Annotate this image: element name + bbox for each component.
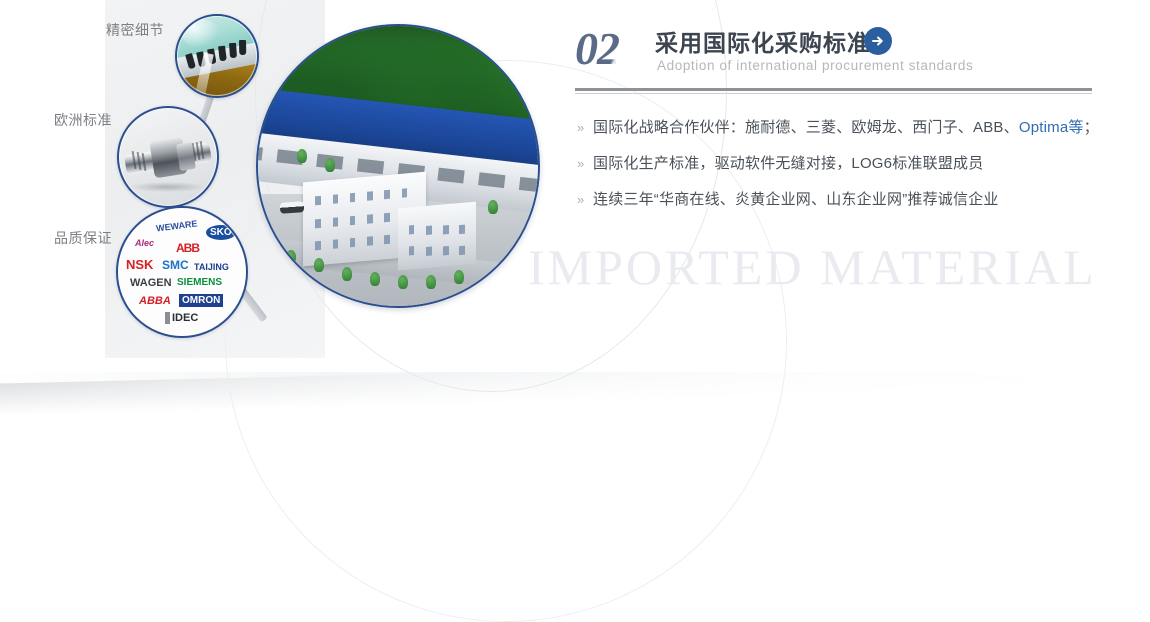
brand-logo-siemens: SIEMENS bbox=[177, 277, 222, 288]
brand-logo-nsk: NSK bbox=[126, 257, 153, 272]
watermark-text: IMPORTED MATERIAL bbox=[528, 238, 1097, 296]
bullet-text-accent: Optima等 bbox=[1019, 119, 1084, 136]
bullet-text: 连续三年“华商在线、炎黄企业网、山东企业网”推荐诚信企业 bbox=[593, 190, 999, 210]
brand-logo-idec: IDEC bbox=[165, 312, 198, 324]
brand-logo-omron: OMRON bbox=[179, 294, 223, 307]
section-header: 02 采用国际化采购标准 Adoption of international p… bbox=[575, 22, 1095, 88]
chevron-right-icon: » bbox=[577, 154, 593, 174]
bullet-text-tail: ； bbox=[1084, 119, 1099, 136]
promo-banner: 精密细节 欧洲标准 品质保证 WEWARE SKO Alec ABB NSK S bbox=[0, 0, 1150, 430]
brand-logo-abba: ABBA bbox=[139, 295, 171, 307]
label-precision-detail: 精密细节 bbox=[106, 20, 164, 40]
list-item: » 连续三年“华商在线、炎黄企业网、山东企业网”推荐诚信企业 bbox=[577, 190, 1097, 210]
arrow-right-circle-icon[interactable] bbox=[864, 27, 892, 55]
brand-logo-alec: Alec bbox=[135, 238, 154, 248]
bullet-list: » 国际化战略合作伙伴：施耐德、三菱、欧姆龙、西门子、ABB、Optima等； … bbox=[577, 118, 1097, 226]
list-item: » 国际化生产标准，驱动软件无缝对接，LOG6标准联盟成员 bbox=[577, 154, 1097, 174]
section-content: 02 采用国际化采购标准 Adoption of international p… bbox=[575, 22, 1095, 88]
section-title-zh: 采用国际化采购标准 bbox=[655, 24, 871, 58]
label-quality-assurance: 品质保证 bbox=[54, 228, 112, 248]
chevron-right-icon: » bbox=[577, 118, 593, 138]
precision-detail-photo bbox=[175, 14, 259, 98]
brand-logo-smc: SMC bbox=[162, 258, 189, 272]
brand-logo-taijing: TAIJING bbox=[194, 262, 229, 272]
european-standard-photo bbox=[117, 106, 219, 208]
brand-logo-abb: ABB bbox=[176, 241, 199, 255]
section-title-en: Adoption of international procurement st… bbox=[657, 58, 973, 73]
brand-logo-sko: SKO bbox=[206, 225, 236, 240]
brand-logos-photo: WEWARE SKO Alec ABB NSK SMC TAIJING WAGE… bbox=[116, 206, 248, 338]
header-divider bbox=[575, 88, 1092, 94]
bullet-text-main: 国际化战略合作伙伴：施耐德、三菱、欧姆龙、西门子、ABB、 bbox=[593, 119, 1019, 136]
bullet-text: 国际化生产标准，驱动软件无缝对接，LOG6标准联盟成员 bbox=[593, 154, 983, 174]
chevron-right-icon: » bbox=[577, 190, 593, 210]
section-number: 02 bbox=[575, 26, 619, 72]
list-item: » 国际化战略合作伙伴：施耐德、三菱、欧姆龙、西门子、ABB、Optima等； bbox=[577, 118, 1097, 138]
bullet-text: 国际化战略合作伙伴：施耐德、三菱、欧姆龙、西门子、ABB、Optima等； bbox=[593, 118, 1099, 138]
label-european-standard: 欧洲标准 bbox=[54, 110, 112, 130]
brand-logo-weware: WEWARE bbox=[156, 219, 198, 234]
factory-aerial-photo bbox=[256, 24, 540, 308]
brand-logo-wagen: WAGEN bbox=[130, 277, 172, 289]
